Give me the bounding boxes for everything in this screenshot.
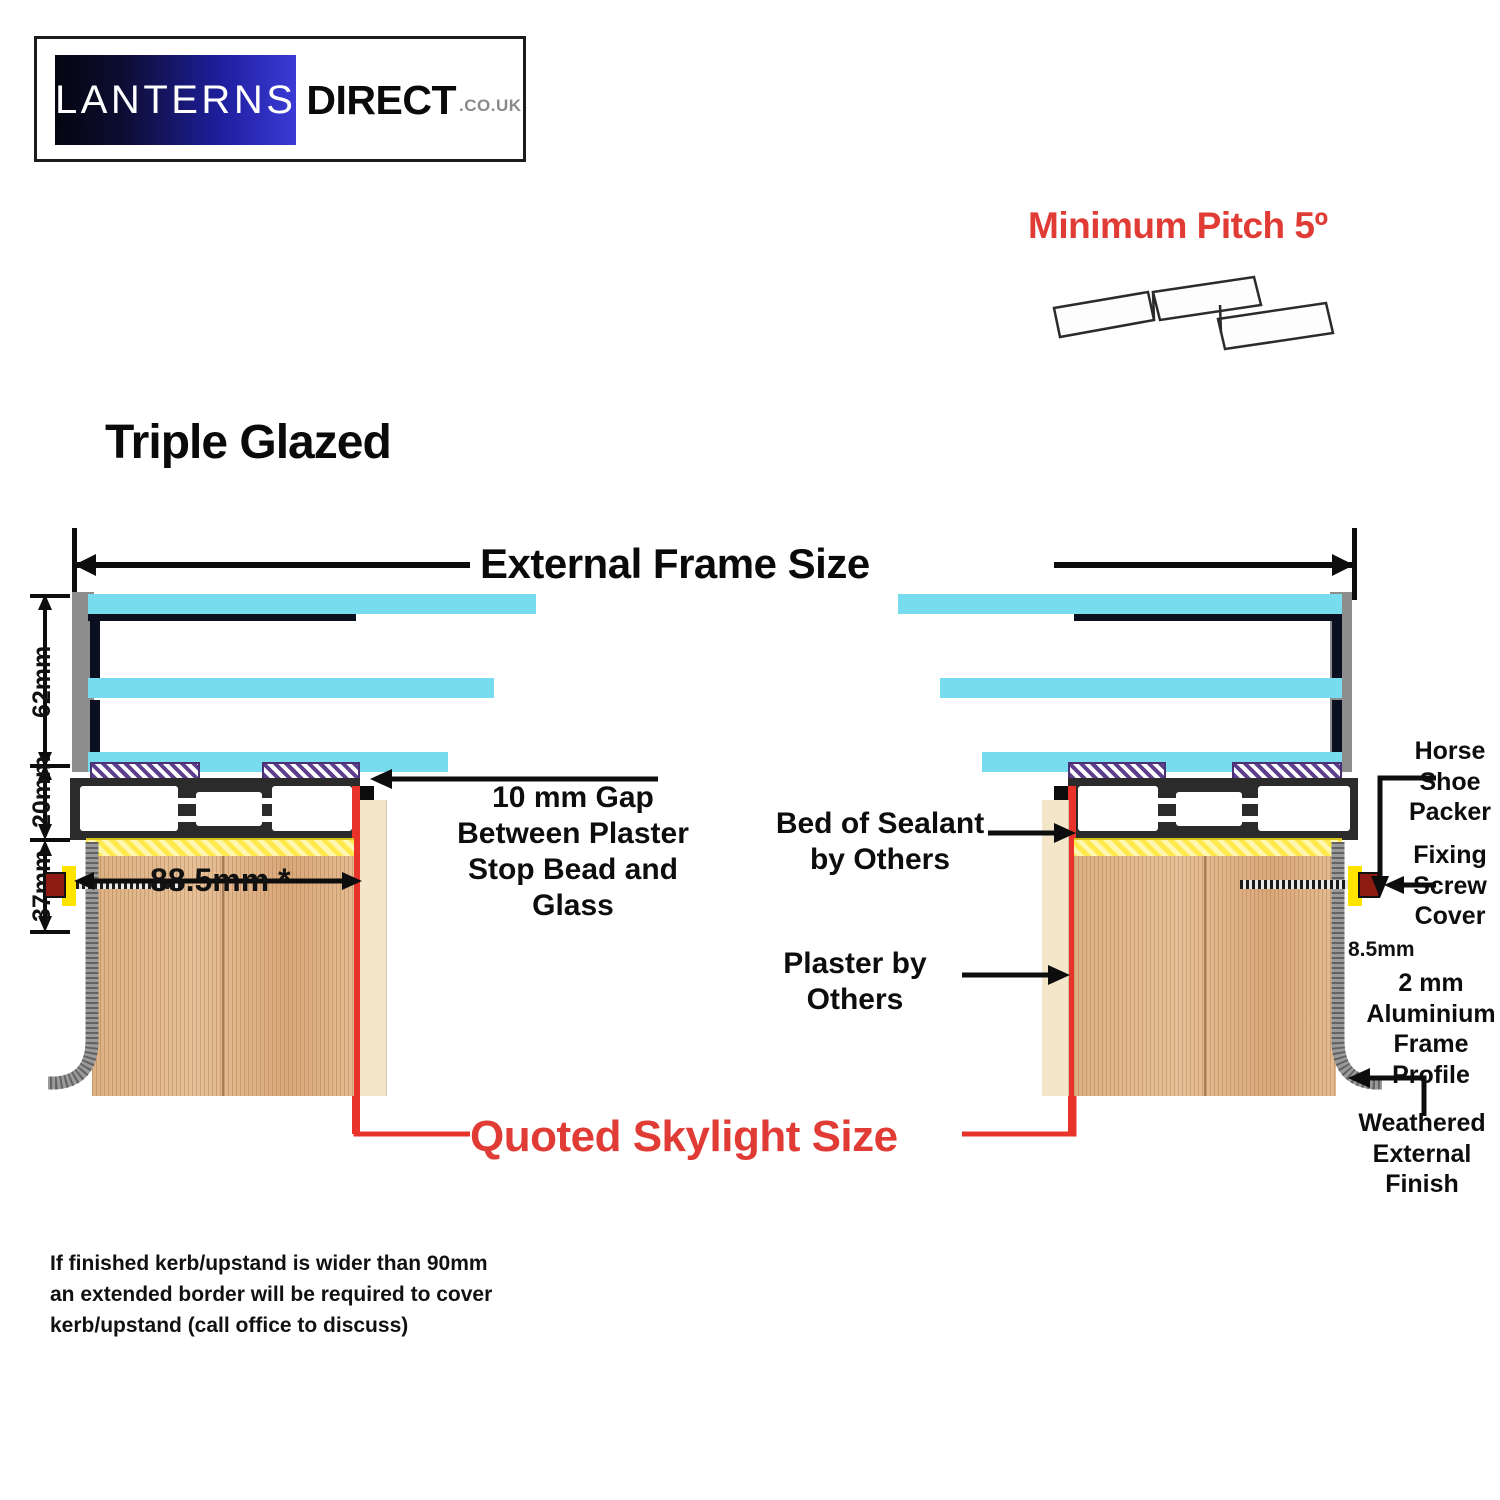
glass-spacer-vertical-bottom-right: [1332, 700, 1342, 758]
fixing-screw-cover-left: [44, 872, 66, 898]
logo-direct-text: DIRECT: [306, 77, 456, 124]
profile-chamber-middle-right: [1176, 792, 1242, 826]
glass-pane-outer: [88, 594, 536, 614]
glass-spacer-vertical-top-right: [1332, 618, 1342, 684]
logo-lanterns-text: LANTERNS: [55, 78, 296, 123]
dim-20mm-label: 20mm: [28, 756, 57, 828]
bed-of-sealant-leader: [986, 820, 1082, 846]
glass-pane-outer-right: [898, 594, 1342, 614]
profile-chamber-outer-right: [1258, 786, 1350, 831]
dim-85mm-label: 8.5mm: [1348, 938, 1415, 962]
thermal-break-lower-right: [260, 816, 276, 822]
profile-chamber-middle: [196, 792, 262, 826]
plaster-layer-left: [360, 800, 387, 1096]
glass-spacer-bar-top: [88, 614, 356, 621]
thermal-break-lower-left: [178, 816, 198, 822]
profile-chamber-outer: [80, 786, 178, 831]
glass-spacer-vertical-top: [90, 618, 100, 684]
dim-62mm-label: 62mm: [28, 646, 57, 718]
glazing-type-title: Triple Glazed: [105, 415, 391, 470]
dim-885mm-label: 88.5mm *: [150, 862, 291, 899]
glass-spacer-vertical-bottom: [90, 700, 100, 758]
quoted-skylight-size-label: Quoted Skylight Size: [470, 1112, 898, 1162]
plaster-by-others-leader: [960, 962, 1076, 988]
profile-chamber-inner: [272, 786, 352, 831]
logo-tld-text: .CO.UK: [459, 96, 522, 116]
thermal-break-upper-left-right: [1158, 798, 1176, 804]
thermal-break-lower-left-right: [1158, 816, 1176, 822]
efs-dimension-arrows: [70, 548, 1360, 582]
kerb-width-note: If finished kerb/upstand is wider than 9…: [50, 1248, 570, 1341]
fixing-screw-cover-label: Fixing Screw Cover: [1400, 840, 1500, 932]
brand-logo: LANTERNS DIRECT .CO.UK: [34, 36, 526, 162]
gap-callout-label: 10 mm Gap Between Plaster Stop Bead and …: [438, 780, 708, 924]
plaster-by-others-label: Plaster by Others: [760, 946, 950, 1018]
thermal-break-upper-right-right: [1240, 798, 1260, 804]
thermal-break-upper-left: [178, 798, 198, 804]
thermal-break-upper-right: [260, 798, 276, 804]
kerb-joint-right: [1204, 856, 1206, 1096]
pitch-profile-sketch: [1040, 275, 1350, 375]
glass-pane-middle-right: [940, 678, 1342, 698]
glass-pane-middle: [88, 678, 494, 698]
bed-of-sealant-label: Bed of Sealant by Others: [770, 806, 990, 878]
horse-shoe-packer-label: Horse Shoe Packer: [1398, 736, 1500, 828]
minimum-pitch-title: Minimum Pitch 5º: [1028, 205, 1328, 247]
thermal-break-lower-right-right: [1240, 816, 1260, 822]
profile-chamber-inner-right: [1078, 786, 1158, 831]
weathered-finish-label: Weathered External Finish: [1352, 1108, 1492, 1200]
glass-spacer-bar-top-right: [1074, 614, 1342, 621]
logo-gradient-panel: LANTERNS: [55, 55, 296, 145]
fixing-screw-right: [1240, 880, 1348, 889]
